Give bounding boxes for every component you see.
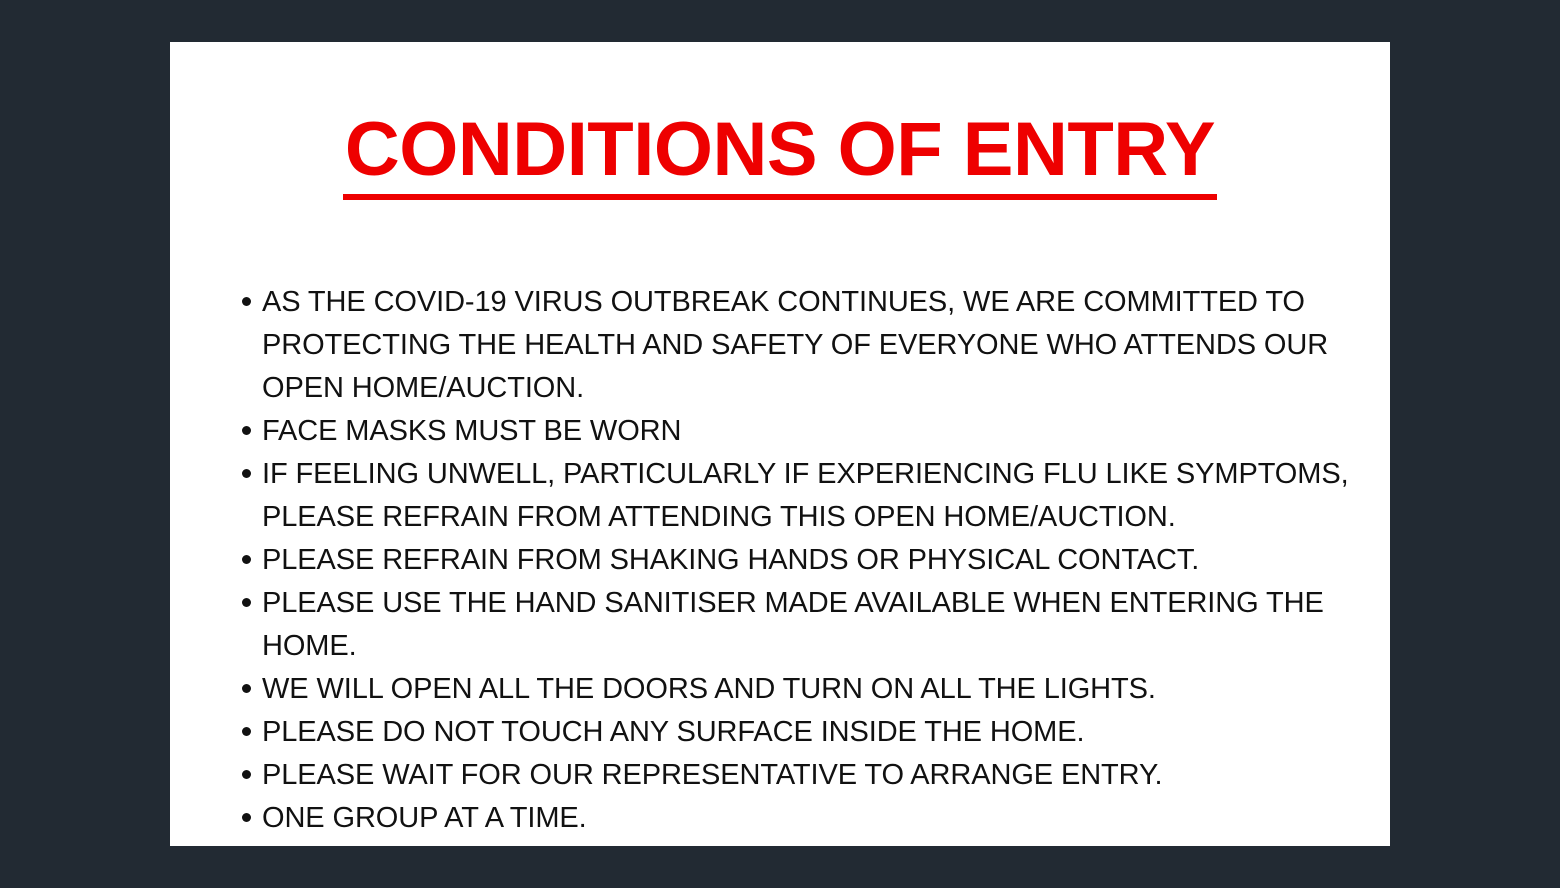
list-item-text: ONE GROUP AT A TIME. bbox=[262, 802, 587, 834]
bullet-dot-icon bbox=[242, 426, 251, 435]
bullet-dot-icon bbox=[242, 598, 251, 607]
bullet-dot-icon bbox=[242, 469, 251, 478]
screenshot-canvas: CONDITIONS OF ENTRY AS THE COVID-19 VIRU… bbox=[0, 0, 1560, 888]
list-item-text: WE WILL OPEN ALL THE DOORS AND TURN ON A… bbox=[262, 673, 1156, 705]
list-item: FACE MASKS MUST BE WORN bbox=[170, 410, 1390, 453]
bullet-dot-icon bbox=[242, 770, 251, 779]
list-item: PLEASE USE THE HAND SANITISER MADE AVAIL… bbox=[170, 582, 1390, 668]
page-title: CONDITIONS OF ENTRY bbox=[343, 111, 1217, 201]
list-item-text: AS THE COVID-19 VIRUS OUTBREAK CONTINUES… bbox=[262, 286, 1328, 404]
list-item: ONE GROUP AT A TIME. bbox=[170, 797, 1390, 840]
conditions-of-entry-sign: CONDITIONS OF ENTRY AS THE COVID-19 VIRU… bbox=[170, 42, 1390, 846]
list-item: IF FEELING UNWELL, PARTICULARLY IF EXPER… bbox=[170, 453, 1390, 539]
list-item-text: PLEASE WAIT FOR OUR REPRESENTATIVE TO AR… bbox=[262, 759, 1162, 791]
bullet-dot-icon bbox=[242, 813, 251, 822]
list-item: WE WILL OPEN ALL THE DOORS AND TURN ON A… bbox=[170, 668, 1390, 711]
bullet-dot-icon bbox=[242, 555, 251, 564]
list-item-text: PLEASE REFRAIN FROM SHAKING HANDS OR PHY… bbox=[262, 544, 1199, 576]
bullet-dot-icon bbox=[242, 684, 251, 693]
list-item-text: PLEASE DO NOT TOUCH ANY SURFACE INSIDE T… bbox=[262, 716, 1084, 748]
list-item-text: FACE MASKS MUST BE WORN bbox=[262, 415, 681, 447]
list-item-text: IF FEELING UNWELL, PARTICULARLY IF EXPER… bbox=[262, 458, 1349, 533]
list-item: PLEASE REFRAIN FROM SHAKING HANDS OR PHY… bbox=[170, 539, 1390, 582]
list-item: PLEASE WAIT FOR OUR REPRESENTATIVE TO AR… bbox=[170, 754, 1390, 797]
list-item: PLEASE DO NOT TOUCH ANY SURFACE INSIDE T… bbox=[170, 711, 1390, 754]
conditions-list: AS THE COVID-19 VIRUS OUTBREAK CONTINUES… bbox=[170, 281, 1390, 840]
list-item: AS THE COVID-19 VIRUS OUTBREAK CONTINUES… bbox=[170, 281, 1390, 410]
bullet-dot-icon bbox=[242, 297, 251, 306]
list-item-text: PLEASE USE THE HAND SANITISER MADE AVAIL… bbox=[262, 587, 1324, 662]
bullet-dot-icon bbox=[242, 727, 251, 736]
sign-title-container: CONDITIONS OF ENTRY bbox=[170, 42, 1390, 251]
